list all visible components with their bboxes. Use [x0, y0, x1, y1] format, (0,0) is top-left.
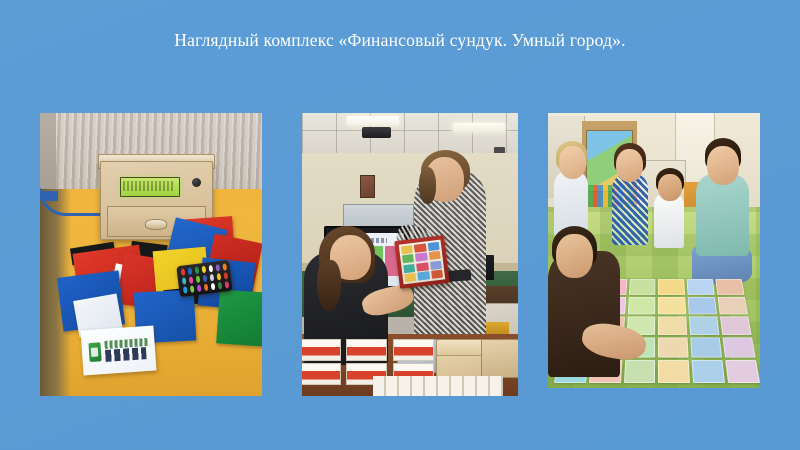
ceiling-lamp	[453, 123, 505, 132]
card-board-tile	[417, 271, 429, 280]
card-board-tile	[402, 254, 414, 263]
smart-city-card	[658, 279, 685, 295]
card-board-tile	[431, 270, 443, 279]
building-card	[346, 339, 387, 361]
smart-city-card	[689, 317, 719, 336]
card-board-tile	[404, 273, 416, 282]
smart-city-card	[716, 279, 745, 295]
card-board-tile	[401, 244, 413, 253]
smart-city-card	[629, 279, 656, 295]
smart-city-card	[692, 360, 725, 382]
remote-key	[224, 281, 229, 288]
remote-control	[176, 260, 233, 297]
card-board-tile	[416, 262, 428, 271]
remote-key	[189, 285, 194, 292]
remote-key	[196, 284, 201, 291]
card-board-tile	[403, 263, 415, 272]
smart-city-card	[726, 360, 760, 382]
smart-city-card	[688, 297, 717, 314]
remote-keypad	[180, 264, 228, 294]
photo-financial-chest-device	[40, 113, 262, 396]
card-board-tile	[414, 243, 426, 252]
child-head	[616, 149, 644, 182]
child-head	[658, 174, 681, 202]
child-head	[556, 234, 592, 278]
drawer-handle	[145, 219, 167, 230]
card-board-tiles	[401, 241, 444, 282]
ceiling-tile-grid	[302, 113, 518, 158]
photo-children-smart-city	[548, 113, 760, 388]
framed-picture	[360, 175, 375, 198]
smart-city-card	[659, 360, 691, 382]
remote-key	[209, 274, 214, 281]
smart-city-card	[718, 297, 748, 314]
remote-key	[217, 282, 222, 289]
demonstration-card-board	[394, 235, 449, 289]
remote-key	[180, 269, 185, 276]
remote-key	[223, 272, 228, 279]
card-board-tile	[430, 260, 442, 269]
smart-city-card	[687, 279, 715, 295]
lcd-text-lines	[123, 181, 174, 191]
page-title: Наглядный комплекс «Финансовый сундук. У…	[0, 30, 800, 51]
child-body	[654, 193, 684, 248]
smart-city-card	[723, 338, 756, 358]
seated-teacher-ponytail	[317, 260, 341, 311]
remote-key	[208, 265, 213, 272]
building-card	[302, 363, 341, 385]
smart-city-card	[659, 317, 688, 336]
smart-city-card	[658, 297, 686, 314]
remote-key	[182, 286, 187, 293]
smart-city-card	[628, 297, 656, 314]
card-strip-row	[373, 376, 503, 396]
child-head	[559, 146, 587, 179]
remote-key	[210, 283, 215, 290]
card-board-inner	[399, 239, 445, 283]
card-board-tile	[427, 241, 439, 250]
child-body	[696, 174, 749, 257]
logo-text-line-2	[105, 347, 147, 362]
card-board-tile	[428, 251, 440, 260]
remote-key	[216, 273, 221, 280]
smart-city-card	[720, 317, 751, 336]
smart-city-card	[691, 338, 723, 358]
remote-key	[181, 277, 186, 284]
child-body	[612, 174, 648, 246]
presentation-slide: Наглядный комплекс «Финансовый сундук. У…	[0, 0, 800, 450]
remote-key	[215, 265, 220, 272]
cable-plug	[42, 191, 58, 201]
child-head	[707, 146, 739, 185]
remote-key	[188, 277, 193, 284]
remote-key	[201, 266, 206, 273]
ceiling-lamp	[347, 116, 399, 126]
remote-key	[187, 268, 192, 275]
remote-key	[202, 275, 207, 282]
building-card	[393, 339, 434, 361]
remote-key	[195, 276, 200, 283]
smart-city-card	[659, 338, 689, 358]
smart-city-card	[624, 360, 656, 382]
brand-logo-card	[81, 326, 157, 376]
card-board-tile	[415, 252, 427, 261]
building-card	[302, 339, 341, 361]
photo-teachers-presentation	[302, 113, 518, 396]
wooden-chest-model	[481, 339, 518, 378]
chest-cube-logo-icon	[88, 342, 102, 362]
green-card	[216, 290, 262, 347]
chest-lid	[437, 340, 485, 355]
remote-key	[194, 267, 199, 274]
remote-key	[203, 283, 208, 290]
standing-teacher-hair-side	[419, 167, 436, 204]
remote-key	[222, 264, 227, 271]
projector	[362, 127, 390, 139]
